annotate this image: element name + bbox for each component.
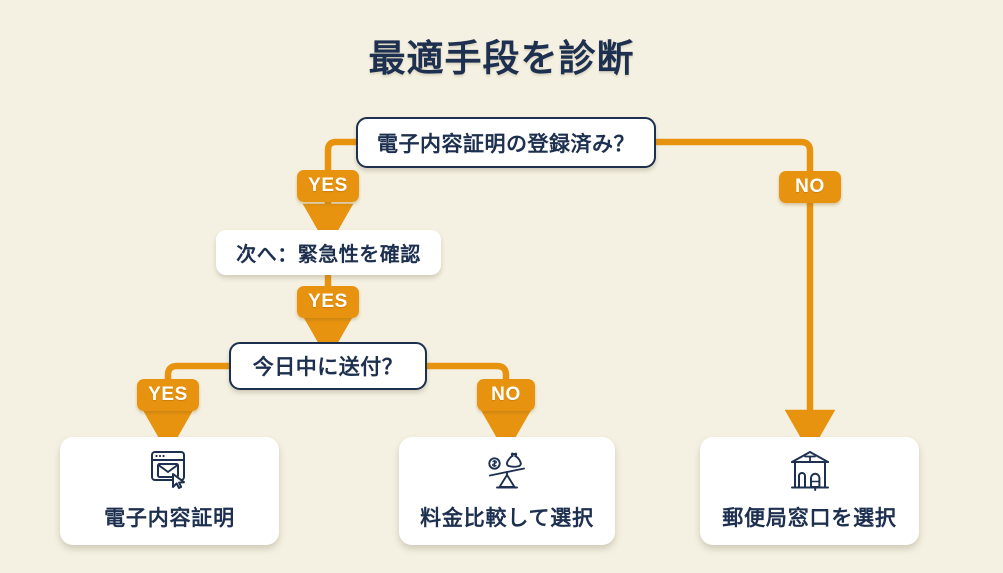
branch-badge-q1-no: NO <box>779 171 841 203</box>
result-card-compare-fees[interactable]: 料金比較して選択 <box>399 437 615 545</box>
branch-badge-step-yes: YES <box>297 286 359 318</box>
browser-envelope-cursor-icon <box>148 447 192 493</box>
result-card-post-office-counter[interactable]: 郵便局窓口を選択 <box>700 437 919 545</box>
decision-node-send-today[interactable]: 今日中に送付？ <box>229 342 427 390</box>
branch-badge-q1-yes: YES <box>297 170 359 202</box>
result-card-label: 郵便局窓口を選択 <box>722 502 896 532</box>
branch-badge-q2-yes: YES <box>137 379 199 411</box>
post-office-building-icon <box>787 447 833 493</box>
decision-node-registration[interactable]: 電子内容証明の登録済み？ <box>356 117 656 168</box>
flowchart-canvas: 最適手段を診断 電子内容証明の登録済み？ 次へ：緊急性を確認 今日中に送付？ Y… <box>0 0 1003 573</box>
process-node-urgency-check[interactable]: 次へ：緊急性を確認 <box>216 230 441 275</box>
result-card-label: 電子内容証明 <box>104 502 235 532</box>
result-card-label: 料金比較して選択 <box>420 502 594 532</box>
balance-scale-money-icon <box>482 447 532 493</box>
branch-badge-q2-no: NO <box>477 379 535 411</box>
result-card-denshi-naiyo-shomei[interactable]: 電子内容証明 <box>60 437 279 545</box>
